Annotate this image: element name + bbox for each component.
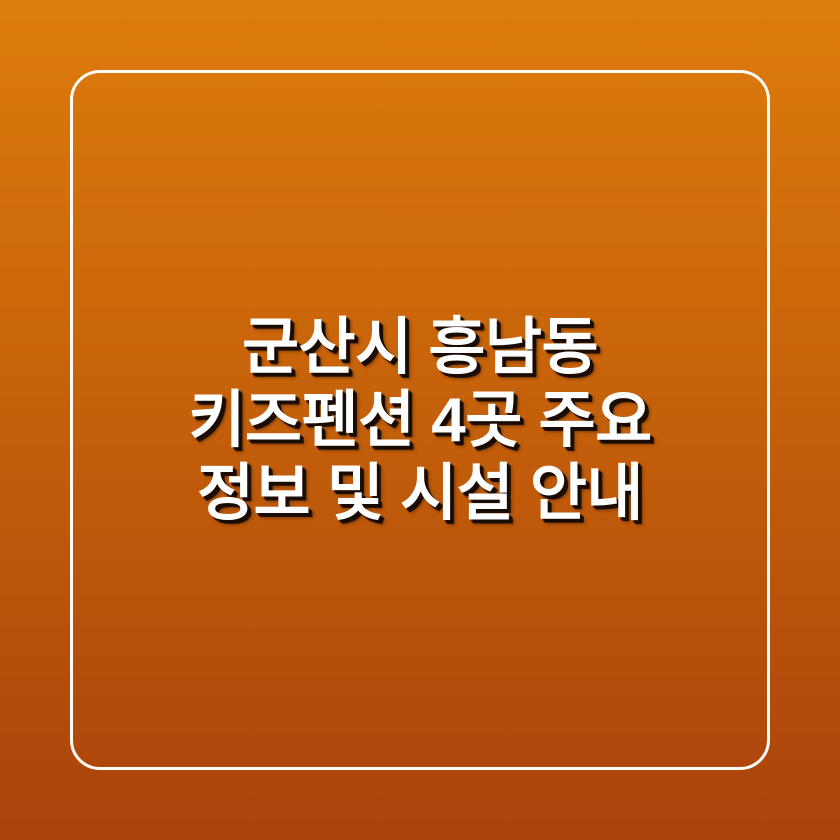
title-line-2: 키즈펜션 4곳 주요 bbox=[80, 384, 760, 457]
title-line-3: 정보 및 시설 안내 bbox=[80, 457, 760, 530]
thumbnail-canvas: 군산시 흥남동 키즈펜션 4곳 주요 정보 및 시설 안내 bbox=[0, 0, 840, 840]
title-block: 군산시 흥남동 키즈펜션 4곳 주요 정보 및 시설 안내 bbox=[0, 0, 840, 840]
title-line-1: 군산시 흥남동 bbox=[80, 311, 760, 384]
